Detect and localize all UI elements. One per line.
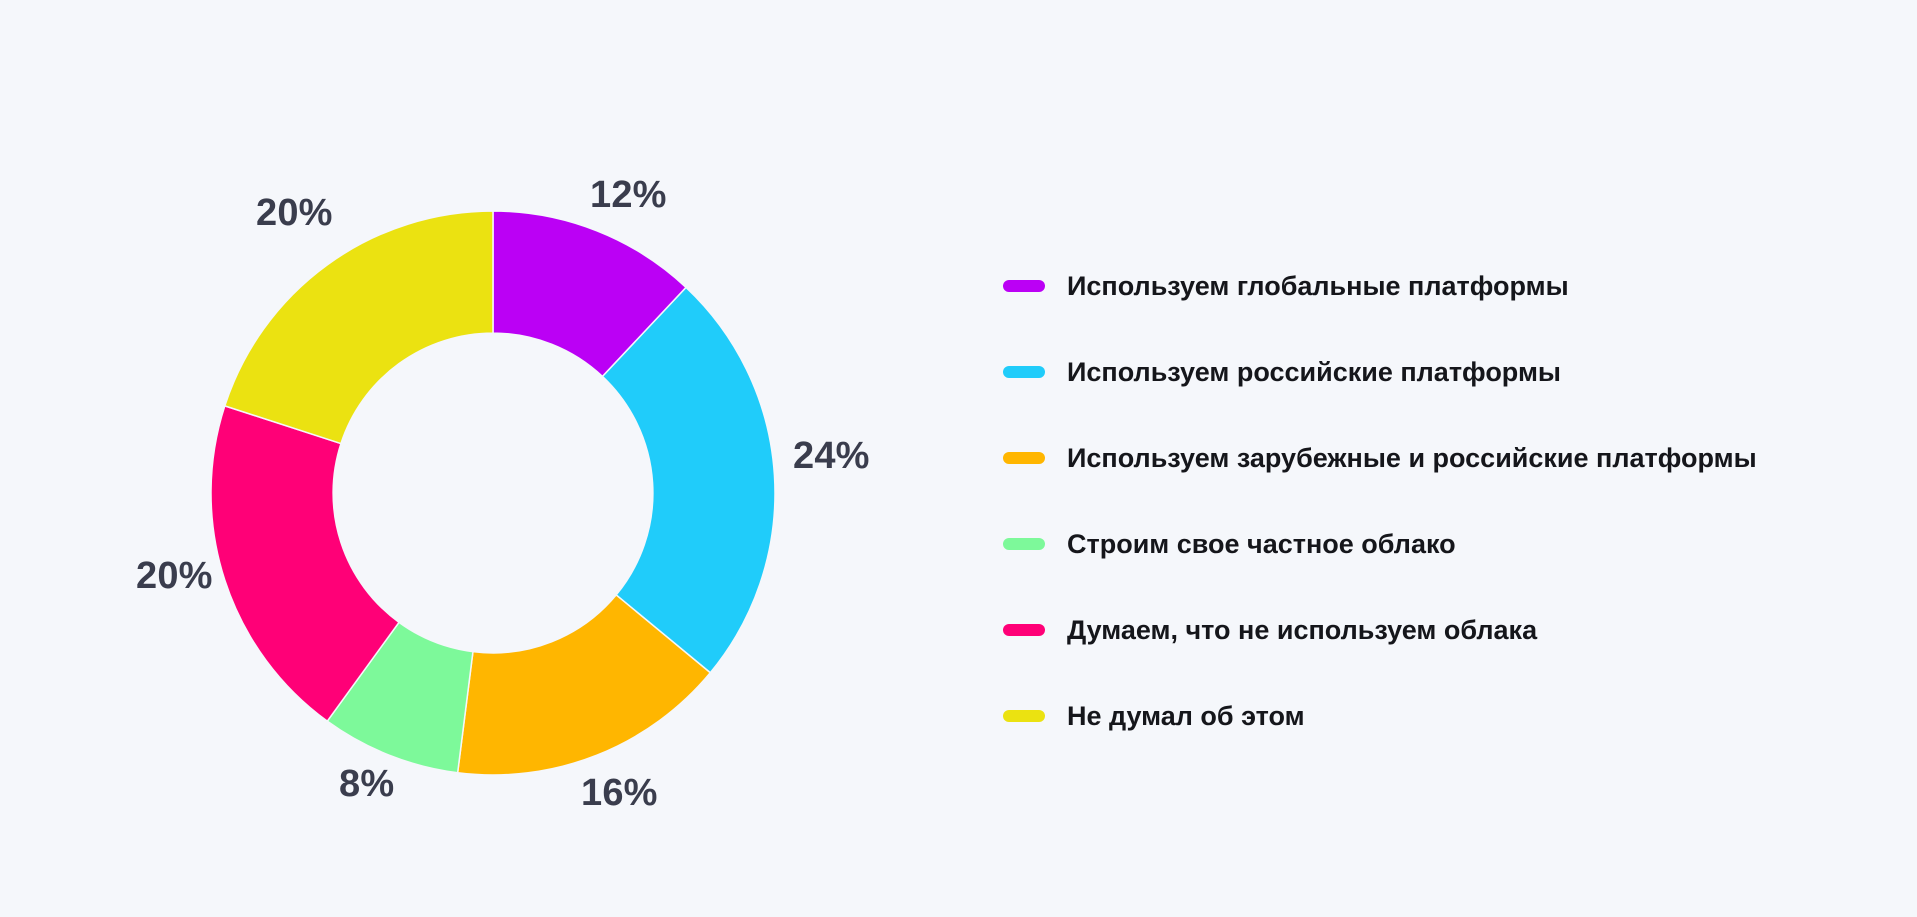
- donut-chart-graphic: [211, 211, 775, 775]
- slice-label-never-thought: 20%: [256, 194, 333, 232]
- legend-item[interactable]: Не думал об этом: [1003, 673, 1757, 759]
- chart-legend: Используем глобальные платформыИспользуе…: [1003, 243, 1757, 759]
- legend-color-swatch: [1003, 538, 1045, 550]
- legend-color-swatch: [1003, 624, 1045, 636]
- legend-item-label: Используем зарубежные и российские платф…: [1067, 445, 1757, 472]
- legend-item[interactable]: Используем глобальные платформы: [1003, 243, 1757, 329]
- donut-svg: [211, 211, 775, 775]
- donut-chart-figure: 12% 24% 16% 8% 20% 20% Используем глобал…: [0, 0, 1917, 917]
- legend-item-label: Строим свое частное облако: [1067, 531, 1456, 558]
- legend-item-label: Думаем, что не используем облака: [1067, 617, 1537, 644]
- slice-label-no-clouds: 20%: [136, 557, 213, 595]
- legend-item-label: Не думал об этом: [1067, 703, 1305, 730]
- legend-item[interactable]: Думаем, что не используем облака: [1003, 587, 1757, 673]
- legend-item[interactable]: Используем зарубежные и российские платф…: [1003, 415, 1757, 501]
- legend-color-swatch: [1003, 366, 1045, 378]
- donut-slice-group: [211, 211, 775, 775]
- legend-item[interactable]: Используем российские платформы: [1003, 329, 1757, 415]
- donut-slice[interactable]: [225, 211, 493, 444]
- legend-color-swatch: [1003, 452, 1045, 464]
- legend-item-label: Используем российские платформы: [1067, 359, 1561, 386]
- legend-color-swatch: [1003, 280, 1045, 292]
- legend-item[interactable]: Строим свое частное облако: [1003, 501, 1757, 587]
- slice-label-global-platforms: 12%: [590, 176, 667, 214]
- slice-label-russian-platforms: 24%: [793, 437, 870, 475]
- slice-label-private-cloud: 8%: [339, 765, 394, 803]
- legend-item-label: Используем глобальные платформы: [1067, 273, 1569, 300]
- slice-label-foreign-and-russian-platforms: 16%: [581, 774, 658, 812]
- legend-color-swatch: [1003, 710, 1045, 722]
